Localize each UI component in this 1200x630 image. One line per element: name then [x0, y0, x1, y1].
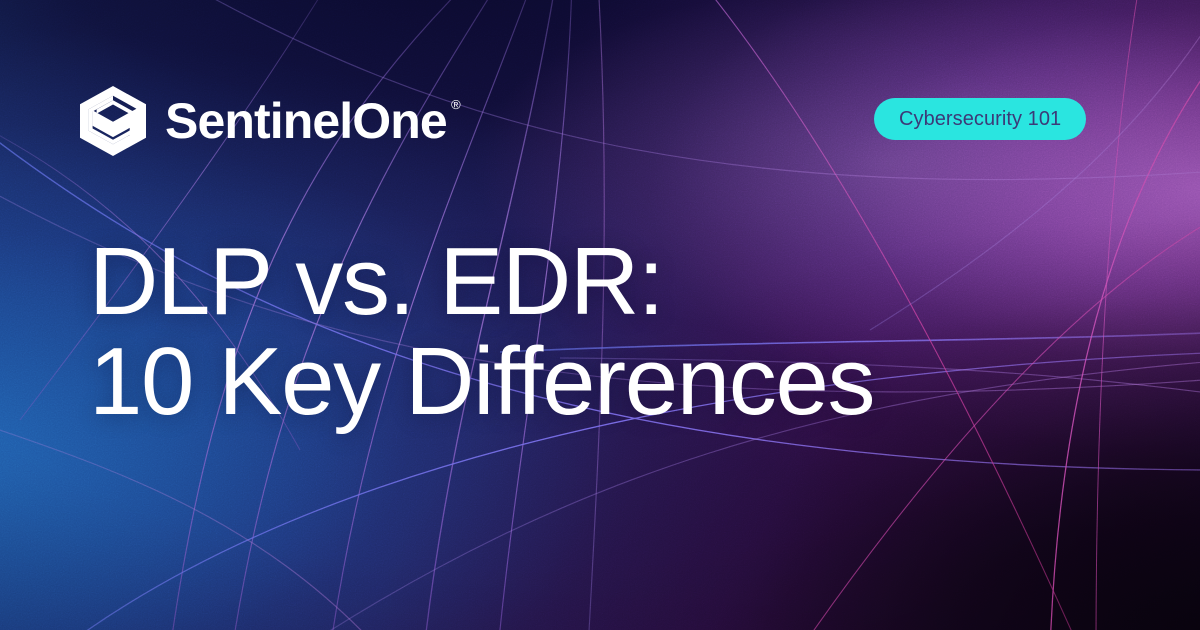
- page-title: DLP vs. EDR: 10 Key Differences: [89, 232, 874, 432]
- social-share-card: SentinelOne® Cybersecurity 101 DLP vs. E…: [0, 0, 1200, 630]
- brand-wordmark: SentinelOne®: [165, 96, 460, 146]
- brand-lockup[interactable]: SentinelOne®: [80, 86, 460, 156]
- card-content: SentinelOne® Cybersecurity 101 DLP vs. E…: [0, 0, 1200, 630]
- brand-wordmark-text: SentinelOne: [165, 93, 447, 149]
- registered-trademark-icon: ®: [451, 98, 460, 111]
- category-badge[interactable]: Cybersecurity 101: [874, 98, 1086, 140]
- category-badge-label: Cybersecurity 101: [899, 108, 1061, 131]
- sentinelone-logo-icon: [80, 86, 146, 156]
